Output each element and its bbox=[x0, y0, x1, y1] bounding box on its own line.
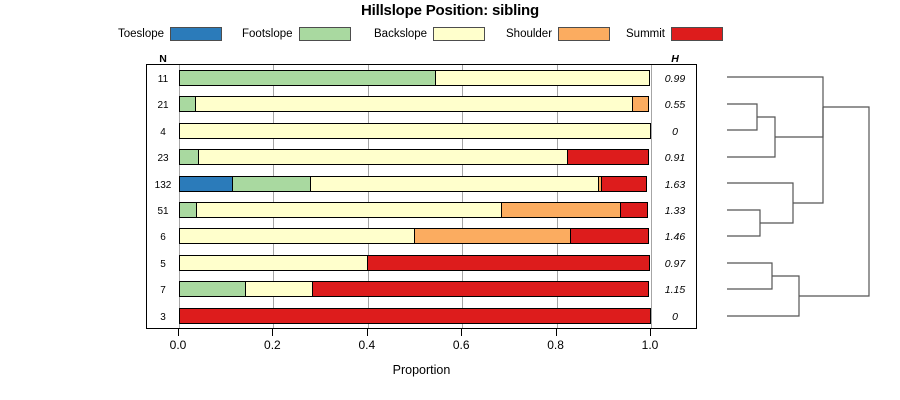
chart-row[interactable]: SEANNA210.55 bbox=[147, 91, 698, 118]
bar-segment-backslope bbox=[435, 70, 650, 86]
legend-label: Toeslope bbox=[118, 25, 164, 43]
n-value: 5 bbox=[149, 250, 177, 277]
bar-segment-toeslope bbox=[179, 176, 233, 192]
bar-segment-summit bbox=[179, 308, 651, 324]
bar-segment-footslope bbox=[179, 202, 197, 218]
x-tick-label: 0.0 bbox=[158, 338, 198, 352]
bar-segment-summit bbox=[570, 228, 649, 244]
stacked-bar bbox=[179, 70, 651, 86]
chart-row[interactable]: GRINDER30 bbox=[147, 303, 698, 330]
n-value: 51 bbox=[149, 197, 177, 224]
plot-panel: NHCONTACTMINE110.99SEANNA210.55HEXIE40IR… bbox=[146, 64, 697, 329]
chart-row[interactable]: LOSTPALMS61.46 bbox=[147, 223, 698, 250]
chart-row[interactable]: IRONPED230.91 bbox=[147, 144, 698, 171]
legend-label: Footslope bbox=[242, 25, 293, 43]
bar-segment-footslope bbox=[179, 149, 199, 165]
n-value: 23 bbox=[149, 144, 177, 171]
n-value: 11 bbox=[149, 65, 177, 92]
bar-segment-shoulder bbox=[501, 202, 621, 218]
stacked-bar bbox=[179, 149, 651, 165]
legend-swatch bbox=[433, 27, 485, 41]
x-axis: 0.00.20.40.60.81.0 bbox=[146, 329, 697, 339]
stacked-bar bbox=[179, 202, 651, 218]
bar-segment-summit bbox=[312, 281, 649, 297]
bar-segment-backslope bbox=[179, 228, 415, 244]
dendro-link-c-e bbox=[793, 107, 823, 203]
chart-row[interactable]: CONTACTMINE110.99 bbox=[147, 65, 698, 92]
bar-segment-backslope bbox=[179, 123, 651, 139]
column-header-h: H bbox=[653, 53, 697, 65]
legend: ToeslopeFootslopeBackslopeShoulderSummit bbox=[118, 25, 738, 43]
stacked-bar bbox=[179, 308, 651, 324]
h-value: 0.99 bbox=[653, 65, 697, 92]
chart-row[interactable]: PINECITY511.33 bbox=[147, 197, 698, 224]
h-value: 0 bbox=[653, 118, 697, 145]
stacked-bar bbox=[179, 281, 651, 297]
bar-segment-backslope bbox=[310, 176, 599, 192]
h-value: 0 bbox=[653, 303, 697, 330]
x-tick bbox=[367, 329, 368, 336]
legend-item-footslope[interactable]: Footslope bbox=[242, 25, 351, 43]
dendro-link-ab-ironped bbox=[727, 117, 775, 157]
stacked-bar bbox=[179, 255, 651, 271]
legend-label: Shoulder bbox=[506, 25, 552, 43]
bar-segment-summit bbox=[620, 202, 648, 218]
legend-swatch bbox=[671, 27, 723, 41]
bar-segment-backslope bbox=[245, 281, 312, 297]
n-value: 3 bbox=[149, 303, 177, 330]
legend-item-shoulder[interactable]: Shoulder bbox=[506, 25, 610, 43]
bar-segment-backslope bbox=[179, 255, 368, 271]
n-value: 6 bbox=[149, 223, 177, 250]
legend-swatch bbox=[299, 27, 351, 41]
dendro-link-seanna-hexie bbox=[727, 104, 757, 130]
bar-segment-summit bbox=[567, 149, 649, 165]
h-value: 1.33 bbox=[653, 197, 697, 224]
stacked-bar bbox=[179, 96, 651, 112]
dendrogram bbox=[697, 64, 900, 329]
column-header-n: N bbox=[149, 53, 177, 65]
chart-root: Hillslope Position: sibling ToeslopeFoot… bbox=[0, 0, 900, 400]
x-tick-label: 0.4 bbox=[347, 338, 387, 352]
legend-swatch bbox=[170, 27, 222, 41]
x-tick-label: 0.2 bbox=[252, 338, 292, 352]
h-value: 1.63 bbox=[653, 171, 697, 198]
bar-segment-backslope bbox=[195, 96, 633, 112]
n-value: 7 bbox=[149, 276, 177, 303]
chart-title: Hillslope Position: sibling bbox=[0, 2, 900, 19]
legend-item-backslope[interactable]: Backslope bbox=[374, 25, 485, 43]
h-value: 1.15 bbox=[653, 276, 697, 303]
dendro-link-g-grinder bbox=[727, 276, 799, 316]
bar-segment-footslope bbox=[179, 70, 436, 86]
x-tick bbox=[556, 329, 557, 336]
h-value: 0.55 bbox=[653, 91, 697, 118]
bar-segment-summit bbox=[601, 176, 647, 192]
bar-segment-footslope bbox=[232, 176, 311, 192]
x-tick bbox=[461, 329, 462, 336]
n-value: 21 bbox=[149, 91, 177, 118]
legend-item-toeslope[interactable]: Toeslope bbox=[118, 25, 222, 43]
chart-row[interactable]: STRANGER71.15 bbox=[147, 276, 698, 303]
dendrogram-svg bbox=[697, 64, 900, 329]
h-value: 0.97 bbox=[653, 250, 697, 277]
x-tick-label: 1.0 bbox=[630, 338, 670, 352]
dendro-link-grubstake-stranger bbox=[727, 263, 772, 289]
x-tick-label: 0.8 bbox=[536, 338, 576, 352]
n-value: 132 bbox=[149, 171, 177, 198]
chart-row[interactable]: CAJON1321.63 bbox=[147, 171, 698, 198]
bar-segment-backslope bbox=[198, 149, 568, 165]
chart-row[interactable]: HEXIE40 bbox=[147, 118, 698, 145]
chart-row[interactable]: GRUBSTAKE50.97 bbox=[147, 250, 698, 277]
x-tick bbox=[650, 329, 651, 336]
bar-segment-footslope bbox=[179, 281, 246, 297]
h-value: 1.46 bbox=[653, 223, 697, 250]
legend-swatch bbox=[558, 27, 610, 41]
dendro-link-pinecity-lostpalms bbox=[727, 210, 760, 236]
bar-segment-backslope bbox=[196, 202, 501, 218]
x-tick-label: 0.6 bbox=[441, 338, 481, 352]
legend-label: Backslope bbox=[374, 25, 427, 43]
bar-segment-summit bbox=[367, 255, 650, 271]
legend-item-summit[interactable]: Summit bbox=[626, 25, 723, 43]
stacked-bar bbox=[179, 228, 651, 244]
stacked-bar bbox=[179, 176, 651, 192]
legend-label: Summit bbox=[626, 25, 665, 43]
dendro-link-root bbox=[799, 107, 869, 296]
bar-segment-footslope bbox=[179, 96, 196, 112]
n-value: 4 bbox=[149, 118, 177, 145]
x-axis-title: Proportion bbox=[146, 363, 697, 377]
x-tick bbox=[272, 329, 273, 336]
bar-segment-shoulder bbox=[414, 228, 571, 244]
x-tick bbox=[178, 329, 179, 336]
h-value: 0.91 bbox=[653, 144, 697, 171]
bar-segment-shoulder bbox=[632, 96, 649, 112]
stacked-bar bbox=[179, 123, 651, 139]
